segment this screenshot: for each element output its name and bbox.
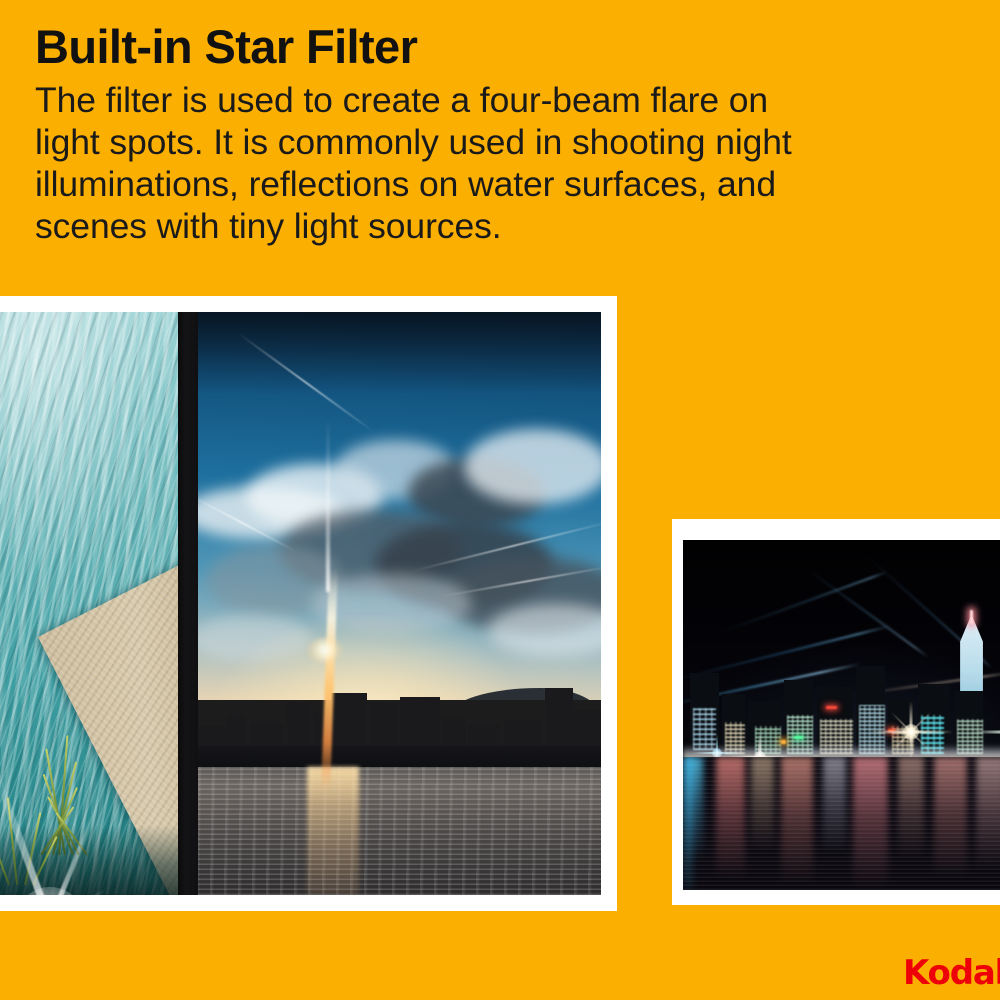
- green-sign-light: [794, 736, 803, 739]
- river-bank: [198, 746, 601, 766]
- river-sparkle-texture: [198, 767, 601, 895]
- light-reflection: [823, 757, 846, 853]
- photo-large-diptych: [0, 312, 601, 895]
- light-reflection: [934, 757, 967, 877]
- description-line: illuminations, reflections on water surf…: [35, 163, 955, 205]
- poster-canvas: Built-in Star Filter The filter is used …: [0, 0, 1000, 1000]
- light-reflection: [683, 757, 693, 890]
- harbour-water: [683, 757, 1000, 890]
- sky-dark-vignette: [198, 312, 601, 394]
- panel-sunset-city-river: [198, 312, 601, 895]
- panel-water-with-star-flare: [0, 312, 178, 895]
- red-sign-light: [826, 706, 837, 709]
- light-reflection: [716, 757, 745, 879]
- river-water: [198, 767, 601, 895]
- light-reflection: [751, 757, 774, 850]
- page-title: Built-in Star Filter: [35, 18, 955, 75]
- light-reflection: [781, 757, 814, 883]
- sun-beam-upward: [326, 417, 330, 592]
- photo-small-frame: [672, 519, 1000, 905]
- building-lights: [693, 708, 716, 750]
- tower-spire-light: [970, 610, 973, 624]
- cloud: [464, 429, 601, 505]
- light-reflection: [853, 757, 889, 887]
- kodak-logo: Kodak: [903, 956, 1000, 990]
- red-sign-light: [888, 729, 895, 732]
- light-reflection: [976, 757, 1000, 869]
- description-line: The filter is used to create a four-beam…: [35, 79, 955, 121]
- page-description: The filter is used to create a four-beam…: [35, 79, 955, 247]
- photo-small-night-city: [683, 540, 1000, 890]
- diptych-divider: [178, 312, 198, 895]
- sun-reflection-path: [307, 767, 359, 895]
- sun-core: [307, 638, 343, 662]
- night-harbour-scene: [683, 540, 1000, 890]
- description-line: light spots. It is commonly used in shoo…: [35, 121, 955, 163]
- photo-large-frame: [0, 296, 617, 911]
- amber-sign-light: [781, 740, 786, 744]
- description-line: scenes with tiny light sources.: [35, 205, 955, 247]
- grass-tuft: [0, 789, 54, 885]
- light-reflection: [898, 757, 924, 858]
- text-block: Built-in Star Filter The filter is used …: [35, 18, 955, 247]
